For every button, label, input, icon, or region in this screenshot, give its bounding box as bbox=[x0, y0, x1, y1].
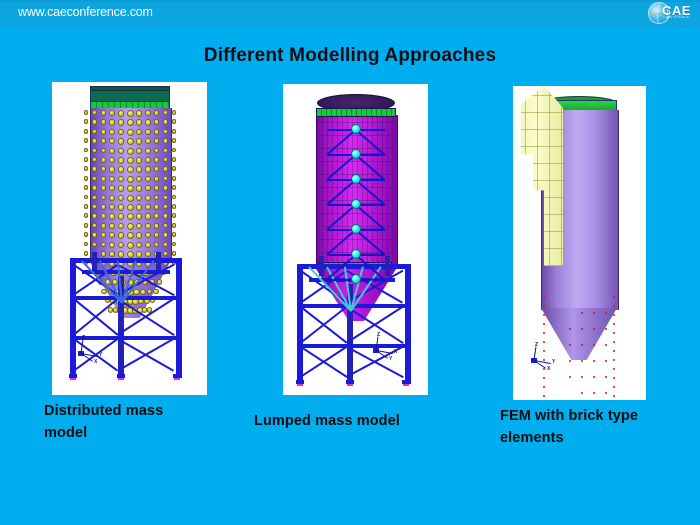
mass-element-node bbox=[172, 157, 177, 162]
column-rear-right bbox=[156, 252, 161, 270]
mass-element-node bbox=[172, 232, 177, 237]
lumped-mass-node bbox=[351, 199, 361, 209]
mass-element-node bbox=[172, 176, 177, 181]
column-rear-left bbox=[319, 256, 324, 276]
mesh-node bbox=[581, 312, 583, 314]
caption-line: Lumped mass model bbox=[254, 410, 464, 432]
column-right bbox=[405, 268, 411, 384]
mesh-node bbox=[613, 341, 615, 343]
mesh-node bbox=[593, 376, 595, 378]
support-marker bbox=[347, 384, 353, 386]
axis-label-x: X bbox=[547, 366, 550, 372]
mesh-node bbox=[569, 376, 571, 378]
mesh-node bbox=[613, 377, 615, 379]
slide-canvas: www.caeconference.com CAE CONFERENCE Dif… bbox=[0, 0, 700, 525]
lumped-mass-node bbox=[351, 174, 361, 184]
mass-element-node bbox=[84, 223, 89, 228]
mass-element-node bbox=[172, 138, 177, 143]
mass-element-node bbox=[172, 119, 177, 124]
axis-label-x: Y bbox=[389, 356, 392, 362]
caption-distributed-mass: Distributed mass model bbox=[44, 400, 234, 445]
axis-label-y: Y bbox=[99, 352, 102, 358]
mesh-node bbox=[593, 312, 595, 314]
silo-mesh-lines bbox=[316, 115, 396, 266]
fem-brick-render: ZYX bbox=[513, 86, 646, 400]
axis-label-z: Z bbox=[82, 335, 85, 341]
mesh-node bbox=[593, 344, 595, 346]
support-marker bbox=[403, 384, 409, 386]
mesh-node bbox=[613, 395, 615, 397]
mesh-node bbox=[543, 314, 545, 316]
axis-label-z: Z bbox=[535, 342, 538, 348]
mesh-node bbox=[605, 312, 607, 314]
lumped-mass-node bbox=[351, 249, 361, 259]
axis-label-y: Y bbox=[552, 359, 555, 365]
mesh-node bbox=[543, 332, 545, 334]
lumped-mass-node bbox=[351, 149, 361, 159]
mass-element-node bbox=[172, 129, 177, 134]
mesh-node bbox=[613, 332, 615, 334]
mesh-node bbox=[581, 328, 583, 330]
platform-beam-top bbox=[297, 264, 411, 269]
mesh-node bbox=[581, 392, 583, 394]
mass-element-node bbox=[172, 166, 177, 171]
lumped-mass-node bbox=[351, 124, 361, 134]
coordinate-triad: ZYX bbox=[76, 337, 106, 363]
mesh-node bbox=[543, 341, 545, 343]
mass-element-node bbox=[84, 195, 89, 200]
mesh-node bbox=[569, 344, 571, 346]
mesh-node bbox=[605, 392, 607, 394]
lumped-mass-node bbox=[351, 274, 361, 284]
lumped-mass-node bbox=[351, 224, 361, 234]
mass-element-node bbox=[84, 148, 89, 153]
column-right bbox=[176, 262, 182, 378]
support-marker bbox=[70, 378, 76, 380]
brick-element-mesh bbox=[513, 86, 563, 266]
mass-element-node bbox=[172, 204, 177, 209]
mesh-node bbox=[543, 305, 545, 307]
mesh-node bbox=[543, 296, 545, 298]
mass-element-node bbox=[84, 204, 89, 209]
mass-element-node bbox=[172, 251, 177, 256]
mesh-node bbox=[613, 314, 615, 316]
distributed-mass-render: ZYX bbox=[52, 82, 207, 395]
mesh-node bbox=[593, 360, 595, 362]
mesh-node bbox=[605, 376, 607, 378]
caption-line: FEM with brick type bbox=[500, 405, 695, 427]
mesh-node bbox=[613, 368, 615, 370]
mesh-node bbox=[581, 360, 583, 362]
mass-element-node bbox=[84, 166, 89, 171]
axis-label-x: X bbox=[94, 359, 97, 365]
coordinate-triad: ZXY bbox=[371, 334, 401, 360]
silo-green-band-top bbox=[316, 108, 396, 117]
slide-header: www.caeconference.com CAE CONFERENCE bbox=[0, 0, 700, 27]
support-marker bbox=[297, 384, 303, 386]
mass-element-node bbox=[172, 223, 177, 228]
cae-logo-subtext: CONFERENCE bbox=[663, 15, 690, 19]
caption-line: elements bbox=[500, 427, 695, 449]
caption-line: model bbox=[44, 422, 234, 444]
mesh-node bbox=[581, 344, 583, 346]
mass-element-node bbox=[84, 110, 89, 115]
caption-line: Distributed mass bbox=[44, 400, 234, 422]
column-rear-right bbox=[385, 256, 390, 276]
coordinate-triad: ZYX bbox=[529, 344, 559, 370]
model-panel-lumped-mass: ZXY bbox=[283, 84, 428, 395]
mesh-node bbox=[613, 296, 615, 298]
mass-element-node bbox=[172, 242, 177, 247]
mass-element-node bbox=[84, 232, 89, 237]
mass-element-node bbox=[172, 110, 177, 115]
mesh-node bbox=[605, 344, 607, 346]
mass-element-node bbox=[108, 307, 113, 312]
cae-logo: CAE CONFERENCE bbox=[646, 1, 694, 25]
silo-shell bbox=[90, 108, 172, 263]
lumped-mass-render: ZXY bbox=[283, 84, 428, 395]
caption-fem-brick: FEM with brick type elements bbox=[500, 405, 695, 450]
mass-element-node bbox=[84, 242, 89, 247]
mass-element-node bbox=[172, 213, 177, 218]
mesh-node bbox=[613, 305, 615, 307]
mesh-node bbox=[605, 360, 607, 362]
mass-element-node bbox=[84, 138, 89, 143]
mass-element-node bbox=[84, 176, 89, 181]
support-marker bbox=[118, 378, 124, 380]
page-title: Different Modelling Approaches bbox=[0, 45, 700, 67]
mesh-node bbox=[543, 323, 545, 325]
mesh-node bbox=[581, 376, 583, 378]
axis-label-z: Z bbox=[377, 332, 380, 338]
header-divider bbox=[0, 0, 700, 2]
mesh-node bbox=[613, 359, 615, 361]
mesh-node bbox=[593, 392, 595, 394]
mesh-node bbox=[613, 386, 615, 388]
mass-element-node bbox=[172, 185, 177, 190]
mass-element-node bbox=[172, 148, 177, 153]
mass-element-node bbox=[84, 251, 89, 256]
mesh-node bbox=[613, 350, 615, 352]
mesh-node bbox=[543, 377, 545, 379]
mesh-node bbox=[543, 386, 545, 388]
mesh-node bbox=[569, 360, 571, 362]
caption-lumped-mass: Lumped mass model bbox=[254, 410, 464, 432]
column-left bbox=[297, 268, 303, 384]
mesh-node bbox=[569, 328, 571, 330]
mass-element-node bbox=[84, 185, 89, 190]
support-marker bbox=[174, 378, 180, 380]
column-rear-left bbox=[92, 252, 97, 270]
mass-element-node bbox=[172, 195, 177, 200]
axis-label-y: X bbox=[394, 349, 397, 355]
platform-beam-top bbox=[70, 258, 182, 263]
model-panel-distributed-mass: ZYX bbox=[52, 82, 207, 395]
mass-element-node bbox=[84, 213, 89, 218]
mesh-node bbox=[605, 328, 607, 330]
mesh-node bbox=[593, 328, 595, 330]
mass-element-node bbox=[84, 119, 89, 124]
mass-element-node bbox=[84, 157, 89, 162]
mass-element-node bbox=[84, 129, 89, 134]
model-panel-fem-brick: ZYX bbox=[513, 86, 646, 400]
mesh-node bbox=[613, 323, 615, 325]
site-url-text: www.caeconference.com bbox=[18, 5, 153, 19]
mesh-node bbox=[543, 395, 545, 397]
